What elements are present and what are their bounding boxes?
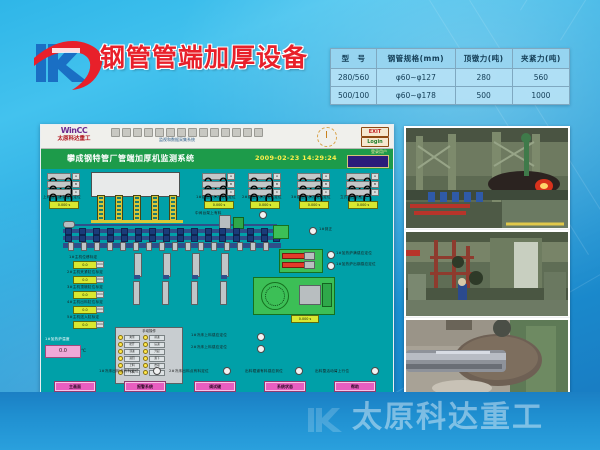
status-led xyxy=(118,356,123,361)
clamp-head xyxy=(304,261,315,269)
hmi-datetime: 2009-02-23 14:29:24 xyxy=(255,154,337,162)
hmi-title-bar: 攀成钢特管厂管端加厚机监测系统 2009-02-23 14:29:24 登录用户 xyxy=(41,149,393,169)
axis-value: 0.0 xyxy=(73,276,97,284)
cell-clamp-force: 560 xyxy=(512,69,569,87)
meter-tag: A xyxy=(371,173,379,180)
meter-group: 0.0A 0.0B 0.0C xyxy=(297,173,330,197)
control-item[interactable]: 前进 xyxy=(143,335,165,341)
status-led xyxy=(143,349,148,354)
zoom-icon[interactable] xyxy=(199,128,208,137)
control-label: 升起 xyxy=(149,349,165,355)
status-lamp xyxy=(153,367,161,375)
manual-control-panel[interactable]: 手动操作 夹紧 松开 顶进 退回 上料 下料 前进 后退 升起 落下 xyxy=(115,327,183,384)
meter-group: 0.0A 0.0B 0.0C xyxy=(248,173,281,197)
temperature-value: 0.0 xyxy=(45,345,81,358)
th-pipe-spec: 钢管规格(mm) xyxy=(377,49,455,69)
status-led xyxy=(118,363,123,368)
lower-rod xyxy=(162,281,169,305)
control-label: 退回 xyxy=(124,356,140,362)
meter-readout: 0.000 s xyxy=(348,201,378,209)
nav-button-alarm[interactable]: 报警系统 xyxy=(124,381,166,392)
status-lamp xyxy=(327,262,335,270)
th-model: 型 号 xyxy=(331,49,377,69)
status-led xyxy=(143,370,148,375)
status-lamp xyxy=(223,367,231,375)
hmi-scada-screenshot: WinCC 太原科达重工 监视和数据采集系统 EXIT Login 攀成钢特管厂… xyxy=(40,124,394,400)
meter-readout: 0.000 s xyxy=(250,201,280,209)
meter-tag: B xyxy=(371,181,379,188)
axis-unit: mm xyxy=(96,276,104,283)
clamp-head xyxy=(304,252,315,260)
meter-caption: 上料台架链条运行定位 xyxy=(43,195,81,200)
press-base xyxy=(163,275,169,279)
cell-upset-force: 500 xyxy=(455,87,512,105)
copy-icon[interactable] xyxy=(155,128,164,137)
status-led xyxy=(118,349,123,354)
bearing-block xyxy=(219,215,231,229)
cell-pipe-spec: φ60~φ127 xyxy=(377,69,455,87)
lamp-label: 1#冷床上料感应定位 xyxy=(191,333,227,338)
nav-button-help[interactable]: 帮助 xyxy=(334,381,376,392)
furnace-column xyxy=(133,195,141,222)
press-cylinder xyxy=(134,253,142,277)
meter-caption: 立式液压机定位 xyxy=(340,195,367,200)
meter-caption: 1#感应炉水冷流量定位 xyxy=(196,195,236,200)
wincc-brand: WinCC 太原科达重工 xyxy=(45,126,103,143)
status-lamp xyxy=(295,367,303,375)
meter-caption: 3#感应炉水冷流量定位 xyxy=(291,195,331,200)
hmi-system-title: 攀成钢特管厂管端加厚机监测系统 xyxy=(67,153,195,164)
slide-header: 钢管管端加厚设备 xyxy=(0,24,330,86)
axis-unit: mm xyxy=(96,291,104,298)
page-title: 钢管管端加厚设备 xyxy=(100,38,308,74)
lower-rod xyxy=(133,281,140,305)
axis-value: 0.0 xyxy=(73,291,97,299)
undo-icon[interactable] xyxy=(177,128,186,137)
motor-unit xyxy=(273,225,289,239)
nav-button-status[interactable]: 系统状态 xyxy=(264,381,306,392)
control-item[interactable]: 后退 xyxy=(143,342,165,348)
control-label: 上料 xyxy=(124,363,140,369)
grid-icon[interactable] xyxy=(210,128,219,137)
axis-label: 5#主机送入缸标定 xyxy=(67,315,99,320)
cell-upset-force: 280 xyxy=(455,69,512,87)
furnace-column xyxy=(169,195,177,222)
meter-tag: A xyxy=(227,173,235,180)
nav-button-debug[interactable]: 调试键 xyxy=(194,381,236,392)
control-label: 后退 xyxy=(149,342,165,348)
meter-value: 0.0 xyxy=(202,181,226,188)
toolbar-note: 监视和数据采集系统 xyxy=(159,137,195,143)
axis-unit: mm xyxy=(96,261,104,268)
lower-rod xyxy=(220,281,227,305)
pipe-end-cap xyxy=(63,221,75,228)
pipe-line xyxy=(69,224,277,226)
cell-clamp-force: 1000 xyxy=(512,87,569,105)
wincc-label: WinCC xyxy=(45,126,103,135)
lamp-label: 2#冷床上料感应定位 xyxy=(191,345,227,350)
table-header-row: 型 号 钢管规格(mm) 顶镦力(吨) 夹紧力(吨) xyxy=(331,49,570,69)
meter-value: 0.0 xyxy=(47,173,71,180)
save-icon[interactable] xyxy=(122,128,131,137)
meter-value: 0.0 xyxy=(297,181,321,188)
axis-label: 4#主机出料缸位标定 xyxy=(67,300,103,305)
hmi-mimic-diagram: 0.0A 0.0B 0.0C 上料台架链条运行定位 0.000 s 0.0A 0… xyxy=(41,169,393,400)
meter-value: 0.0 xyxy=(47,181,71,188)
control-label: 顶进 xyxy=(124,349,140,355)
axis-value: 0.0 xyxy=(73,321,97,329)
exit-button[interactable]: EXIT xyxy=(361,127,389,137)
cell-model: 280/560 xyxy=(331,69,377,87)
meter-tag: B xyxy=(273,181,281,188)
meter-group: 0.0A 0.0B 0.0C xyxy=(202,173,235,197)
workshop-pipe-line-photo xyxy=(404,126,570,230)
print-icon[interactable] xyxy=(133,128,142,137)
meter-tag: C xyxy=(371,189,379,196)
control-item[interactable]: 松开 xyxy=(118,342,140,348)
status-led xyxy=(118,342,123,347)
meter-group: 0.0A 0.0B 0.0C xyxy=(47,173,80,197)
bottom-lamp-label: 1#冷床出料点有料定位 xyxy=(99,369,139,374)
bottom-lamp-label: 2#冷床出料点有料定位 xyxy=(169,369,209,374)
lamp-label: 1#到正 xyxy=(319,227,332,232)
axis-value: 0.0 xyxy=(73,306,97,314)
table-row: 500/100 φ60~φ178 500 1000 xyxy=(331,87,570,105)
status-lamp xyxy=(257,345,265,353)
meter-tag: B xyxy=(72,181,80,188)
lower-rod xyxy=(191,281,198,305)
spec-table: 型 号 钢管规格(mm) 顶镦力(吨) 夹紧力(吨) 280/560 φ60~φ… xyxy=(330,48,570,105)
hmi-toolbar: WinCC 太原科达重工 监视和数据采集系统 EXIT Login xyxy=(41,125,393,149)
hydraulic-press-photo xyxy=(404,230,570,318)
lamp-label: 1#加热炉出钢感应定位 xyxy=(336,262,376,267)
press-cylinder xyxy=(163,253,171,277)
status-lamp xyxy=(327,251,335,259)
furnace-column xyxy=(115,195,123,222)
kd-watermark-logo xyxy=(306,402,346,436)
control-item[interactable]: 升起 xyxy=(143,349,165,355)
lamp-label: 中间台架上有料 xyxy=(195,211,222,216)
control-label: 夹紧 xyxy=(124,335,140,341)
press-base xyxy=(134,275,140,279)
meter-value: 0.0 xyxy=(248,181,272,188)
status-led xyxy=(118,335,123,340)
hopper-vessel xyxy=(91,172,180,197)
control-item[interactable]: 上料 xyxy=(118,363,140,369)
meter-readout: 0.000 s xyxy=(299,201,329,209)
meter-readout: 0.000 s xyxy=(204,201,234,209)
status-lamp xyxy=(259,211,267,219)
clock-icon xyxy=(317,127,337,147)
hydraulic-indicator xyxy=(282,253,306,259)
th-clamp-force: 夹紧力(吨) xyxy=(512,49,569,69)
meter-value: 0.0 xyxy=(248,173,272,180)
furnace-column xyxy=(97,195,105,222)
press-readout: 0.000 s xyxy=(291,315,319,323)
meter-value: 0.0 xyxy=(297,173,321,180)
control-item[interactable]: 夹紧 xyxy=(118,335,140,341)
control-item[interactable]: 顶进 xyxy=(118,349,140,355)
login-button[interactable]: Login xyxy=(361,137,389,147)
slide-canvas: 钢管管端加厚设备 型 号 钢管规格(mm) 顶镦力(吨) 夹紧力(吨) 280/… xyxy=(0,0,600,450)
settings-icon[interactable] xyxy=(254,128,263,137)
bottom-lamp-label: 出料辊道有料感应到位 xyxy=(245,369,283,374)
company-watermark: 太原科达重工 xyxy=(352,392,544,436)
control-label: 前进 xyxy=(149,335,165,341)
status-led xyxy=(143,342,148,347)
meter-tag: A xyxy=(322,173,330,180)
meter-value: 0.0 xyxy=(346,173,370,180)
cell-model: 500/100 xyxy=(331,87,377,105)
cut-icon[interactable] xyxy=(144,128,153,137)
meter-tag: B xyxy=(227,181,235,188)
control-item[interactable]: 落下 xyxy=(143,356,165,362)
axis-value: 0.0 xyxy=(73,261,97,269)
press-guard xyxy=(322,283,332,307)
hydraulic-indicator xyxy=(282,262,306,268)
meter-tag: B xyxy=(322,181,330,188)
press-cylinder xyxy=(221,253,229,277)
flywheel xyxy=(261,282,289,310)
footer-band: 太原科达重工 xyxy=(0,392,600,450)
conveyor-rail xyxy=(91,220,183,223)
temperature-unit: ℃ xyxy=(81,349,86,354)
meter-caption: 2#感应炉水冷流量定位 xyxy=(242,195,282,200)
bottom-lamp-label: 出料整活动臂上行位 xyxy=(315,369,349,374)
meter-readout: 0.000 s xyxy=(49,201,79,209)
meter-value: 0.0 xyxy=(202,173,226,180)
pipe-end-upset-closeup-photo xyxy=(404,318,570,402)
press-base xyxy=(192,275,198,279)
axis-label: 2#主机夹紧缸位标定 xyxy=(67,270,103,275)
meter-value: 0.0 xyxy=(346,181,370,188)
lamp-label: 1#加热炉满感应定位 xyxy=(336,251,372,256)
open-icon[interactable] xyxy=(111,128,120,137)
paste-icon[interactable] xyxy=(166,128,175,137)
press-cylinder xyxy=(192,253,200,277)
table-row: 280/560 φ60~φ127 280 560 xyxy=(331,69,570,87)
status-lamp xyxy=(371,367,379,375)
nav-button-main[interactable]: 主画面 xyxy=(54,381,96,392)
status-lamp xyxy=(257,333,265,341)
control-label: 松开 xyxy=(124,342,140,348)
control-item[interactable]: 退回 xyxy=(118,356,140,362)
status-led xyxy=(143,363,148,368)
control-label: 落下 xyxy=(149,356,165,362)
axis-label: 1#主机位移标定 xyxy=(69,255,97,260)
status-led xyxy=(143,335,148,340)
furnace-column xyxy=(151,195,159,222)
alarm-icon[interactable] xyxy=(221,128,230,137)
press-base xyxy=(221,275,227,279)
axis-unit: mm xyxy=(96,306,104,313)
axis-unit: mm xyxy=(96,321,104,328)
company-label: 太原科达重工 xyxy=(45,135,103,143)
hmi-toolbar-icons[interactable] xyxy=(111,128,263,137)
redo-icon[interactable] xyxy=(188,128,197,137)
meter-group: 0.0A 0.0B 0.0C xyxy=(346,173,379,197)
status-led xyxy=(143,356,148,361)
th-upset-force: 顶镦力(吨) xyxy=(455,49,512,69)
meter-tag: A xyxy=(273,173,281,180)
current-user-field[interactable] xyxy=(347,155,389,168)
cell-pipe-spec: φ60~φ178 xyxy=(377,87,455,105)
meter-tag: A xyxy=(72,173,80,180)
status-lamp xyxy=(309,227,317,235)
press-ram xyxy=(299,285,321,305)
report-icon[interactable] xyxy=(243,128,252,137)
axis-label: 3#主机顶镦缸位标定 xyxy=(67,285,103,290)
temperature-label: 1#加热炉温度 xyxy=(45,337,70,342)
trend-icon[interactable] xyxy=(232,128,241,137)
